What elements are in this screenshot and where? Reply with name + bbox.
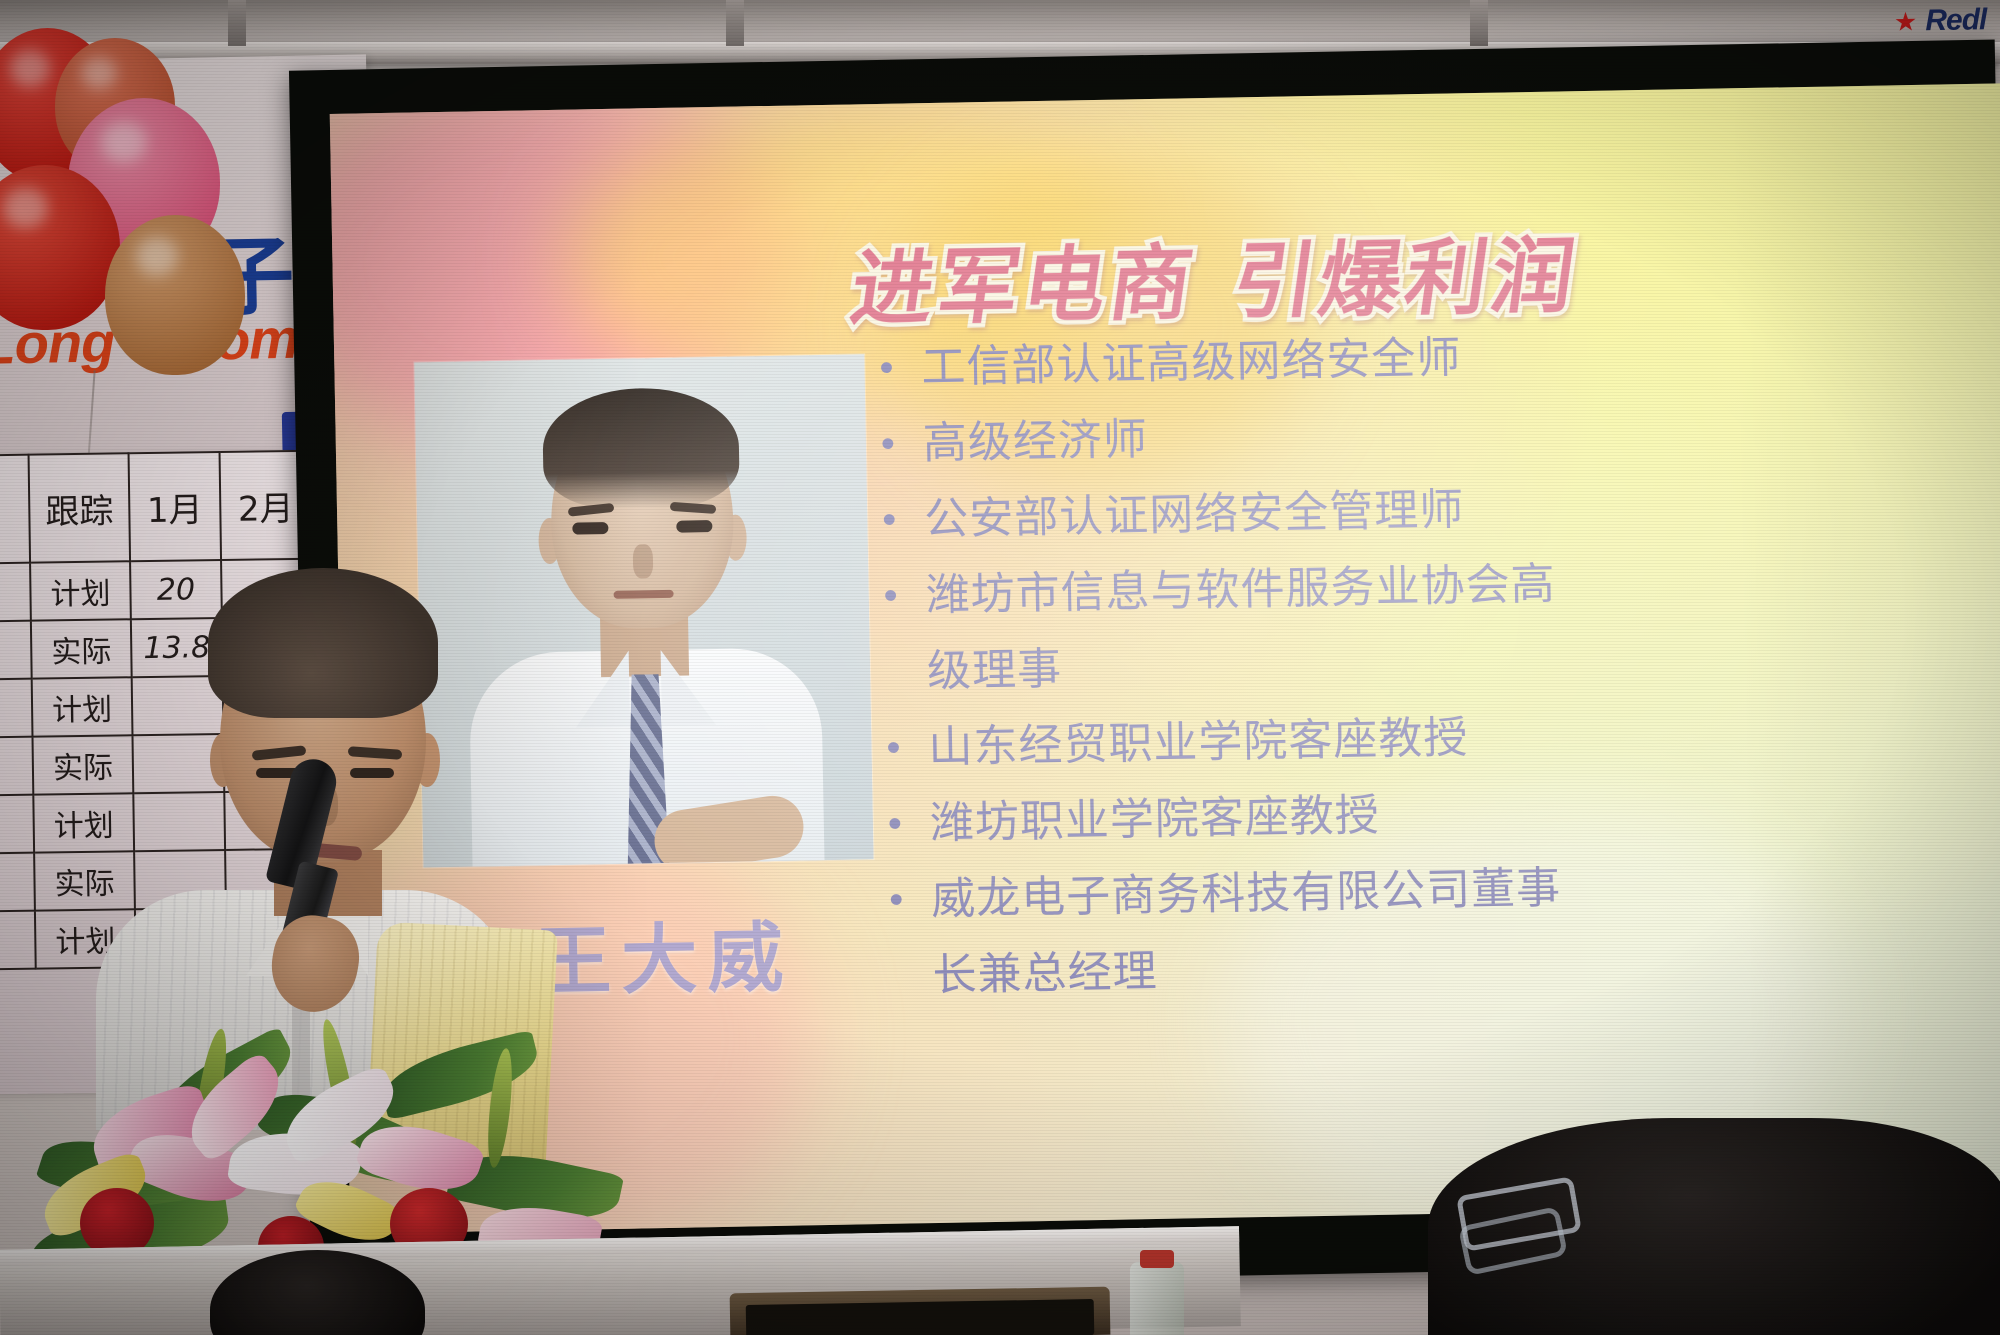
bullet-dot-icon: • — [882, 491, 925, 548]
table-cell — [0, 563, 31, 622]
table-header-jan: 1月 — [129, 452, 221, 561]
portrait-nose — [633, 544, 654, 578]
list-item: • 高级经济师 — [880, 402, 1661, 474]
portrait-mouth — [614, 590, 674, 599]
table-header-track: 跟踪 — [29, 453, 130, 562]
portrait-eye-left — [572, 522, 608, 535]
table-cell — [0, 621, 32, 680]
bullet-dot-icon: • — [879, 339, 922, 396]
rail-bracket — [1470, 0, 1488, 46]
redleaf-logo: ★ Redl — [1893, 3, 1986, 39]
water-bottle — [1130, 1262, 1184, 1335]
monitor-screen — [746, 1299, 1095, 1335]
water-bottle-cap — [1140, 1250, 1174, 1268]
bullet-text: 公安部认证网络安全管理师 — [924, 481, 1465, 549]
bullet-text: 威龙电子商务科技有限公司董事 — [931, 860, 1562, 930]
portrait-eye-right — [676, 520, 712, 533]
bullet-text-continuation: 长兼总经理 — [932, 934, 1671, 1006]
photo-scene: ★ Redl 电子商 Long e-Com 银 跟踪 1月 2月 计划 20 — [0, 0, 2000, 1335]
bullet-text: 潍坊职业学院客座教授 — [929, 787, 1380, 853]
list-item: • 公安部认证网络安全管理师 — [882, 478, 1663, 550]
flower-arrangement — [30, 1038, 670, 1268]
bullet-text: 山东经贸职业学院客座教授 — [928, 709, 1469, 777]
balloon-tan — [105, 215, 245, 375]
slide-title-part1: 进军电商 — [845, 236, 1202, 338]
bullet-dot-icon: • — [886, 719, 929, 776]
list-item: • 潍坊市信息与软件服务业协会高 — [883, 554, 1664, 626]
slide-bullet-list: • 工信部认证高级网络安全师 • 高级经济师 • 公安部认证网络安全管理师 • … — [879, 326, 1671, 1024]
table-cell — [0, 795, 34, 854]
list-item: • 威龙电子商务科技有限公司董事 — [889, 858, 1670, 930]
bullet-dot-icon: • — [887, 795, 930, 852]
bullet-dot-icon: • — [889, 871, 932, 928]
table-cell — [0, 737, 33, 796]
bullet-text: 潍坊市信息与软件服务业协会高 — [925, 556, 1556, 626]
table-cell — [0, 853, 35, 912]
bullet-text: 工信部认证高级网络安全师 — [921, 329, 1462, 397]
slide-title-part2: 引爆利润 — [1227, 229, 1584, 331]
speaker-hair — [208, 568, 438, 718]
rail-bracket — [726, 0, 744, 46]
brand-logo-text: Redl — [1925, 3, 1987, 38]
table-cell — [0, 911, 36, 970]
table-cell — [0, 679, 32, 738]
list-item: • 山东经贸职业学院客座教授 — [886, 706, 1667, 778]
speaker-eye-right — [350, 768, 394, 778]
rail-bracket — [228, 0, 246, 46]
red-star-icon: ★ — [1893, 8, 1917, 34]
bullet-text-continuation: 级理事 — [927, 630, 1666, 702]
table-cell — [0, 455, 30, 564]
portrait-collar-left — [575, 651, 630, 728]
table-header-row: 跟踪 1月 2月 — [0, 451, 312, 564]
bullet-text: 高级经济师 — [922, 411, 1148, 473]
presenter-name: 王大威 — [534, 896, 794, 1011]
bullet-dot-icon: • — [883, 567, 926, 624]
slide-title: 进军电商引爆利润 — [845, 209, 1588, 342]
bullet-dot-icon: • — [880, 415, 923, 472]
list-item: • 潍坊职业学院客座教授 — [887, 782, 1668, 854]
leaf — [376, 1029, 544, 1120]
portrait-collar-right — [661, 649, 716, 726]
